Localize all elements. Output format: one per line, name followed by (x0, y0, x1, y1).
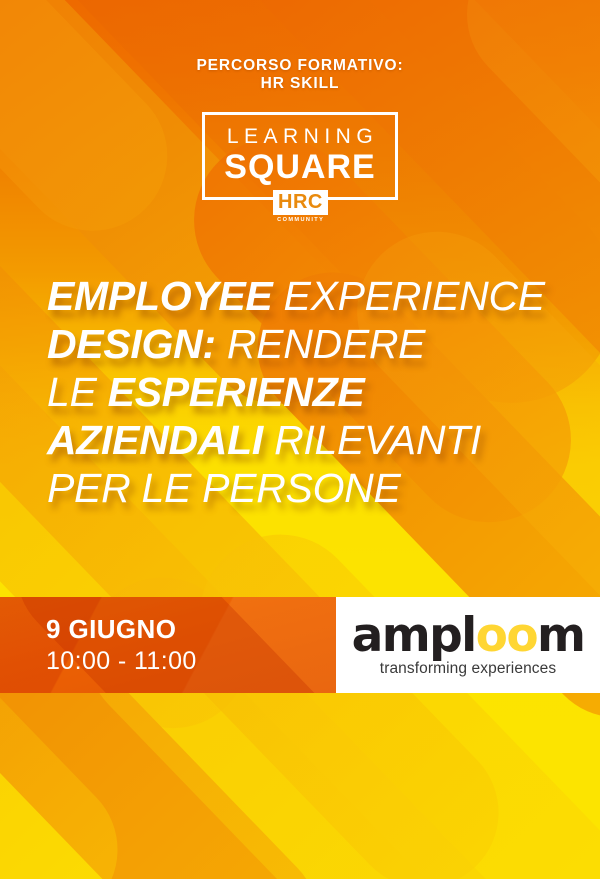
amploom-wordmark-oo: oo (476, 608, 537, 663)
headline-line-3: LE ESPERIENZE (47, 368, 577, 416)
hrc-mark-text: HRC (273, 190, 328, 215)
headline-word-aziendali: AZIENDALI (47, 417, 263, 463)
headline-word-rendere: RENDERE (227, 321, 425, 367)
amploom-tagline: transforming experiences (346, 660, 590, 678)
course-label: PERCORSO FORMATIVO: HR SKILL (0, 57, 600, 93)
headline-phrase-per-le-persone: PER LE PERSONE (47, 465, 401, 511)
amploom-logo: amploom transforming experiences (346, 612, 590, 678)
headline-word-esperienze: ESPERIENZE (108, 369, 365, 415)
headline-line-1: EMPLOYEE EXPERIENCE (47, 272, 577, 320)
course-label-line1: PERCORSO FORMATIVO: (196, 57, 403, 74)
amploom-wordmark-part3: m (537, 608, 584, 663)
promotional-poster: PERCORSO FORMATIVO: HR SKILL LEARNING SQ… (0, 0, 600, 879)
event-date: 9 GIUGNO (46, 613, 197, 645)
amploom-wordmark-part1: ampl (352, 608, 476, 663)
learning-square-word-square: SQUARE (205, 148, 395, 187)
headline-word-employee: EMPLOYEE (47, 273, 272, 319)
headline-word-rilevanti: RILEVANTI (274, 417, 481, 463)
hrc-community-subtitle: COMMUNITY (273, 217, 327, 223)
headline-line-2: DESIGN: RENDERE (47, 320, 577, 368)
event-time: 10:00 - 11:00 (46, 645, 197, 677)
event-datetime-text: 9 GIUGNO 10:00 - 11:00 (46, 613, 197, 677)
headline: EMPLOYEE EXPERIENCE DESIGN: RENDERE LE E… (47, 272, 577, 512)
learning-square-logo: LEARNING SQUARE (202, 112, 398, 200)
headline-word-experience: EXPERIENCE (284, 273, 545, 319)
headline-line-5: PER LE PERSONE (47, 464, 577, 512)
learning-square-word-learning: LEARNING (205, 125, 395, 149)
amploom-wordmark: amploom (346, 612, 590, 659)
course-label-line2: HR SKILL (0, 75, 600, 93)
headline-line-4: AZIENDALI RILEVANTI (47, 416, 577, 464)
headline-word-le: LE (47, 369, 97, 415)
event-datetime-bar: 9 GIUGNO 10:00 - 11:00 (0, 597, 336, 693)
hrc-community-logo: HRC COMMUNITY (273, 190, 327, 223)
sponsor-logo-panel: amploom transforming experiences (336, 597, 600, 693)
headline-word-design: DESIGN: (47, 321, 216, 367)
